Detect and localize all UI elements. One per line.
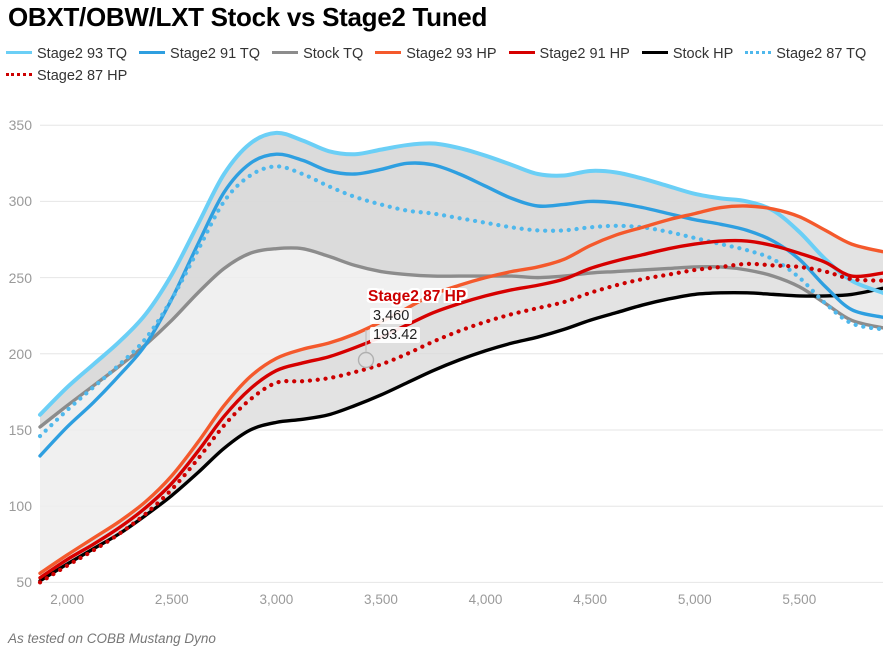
legend-item-label: Stage2 87 HP [37, 68, 127, 84]
legend-item[interactable]: Stage2 91 HP [509, 44, 630, 65]
legend-swatch-icon [6, 73, 32, 76]
legend-item-label: Stage2 93 TQ [37, 46, 127, 62]
chart-canvas [0, 110, 883, 590]
legend-item[interactable]: Stage2 87 HP [6, 66, 127, 87]
x-axis-tick-label: 3,000 [259, 592, 293, 607]
x-axis-tick-label: 5,000 [678, 592, 712, 607]
legend-item-label: Stock HP [673, 46, 733, 62]
x-axis-tick-label: 3,500 [364, 592, 398, 607]
x-axis-tick-label: 4,000 [469, 592, 503, 607]
legend-item[interactable]: Stock HP [642, 44, 733, 65]
chart-footnote: As tested on COBB Mustang Dyno [8, 631, 216, 646]
legend-swatch-icon [272, 51, 298, 54]
legend-swatch-icon [375, 51, 401, 54]
legend-item-label: Stage2 91 HP [540, 46, 630, 62]
x-axis-labels: 2,0002,5003,0003,5004,0004,5005,0005,500 [0, 592, 883, 618]
chart-legend: Stage2 93 TQStage2 91 TQStock TQStage2 9… [6, 44, 883, 87]
legend-item-label: Stock TQ [303, 46, 363, 62]
x-axis-tick-label: 2,500 [155, 592, 189, 607]
legend-swatch-icon [509, 51, 535, 54]
legend-swatch-icon [139, 51, 165, 54]
legend-swatch-icon [745, 51, 771, 54]
dyno-chart: OBXT/OBW/LXT Stock vs Stage2 Tuned Stage… [0, 0, 883, 658]
legend-swatch-icon [6, 51, 32, 54]
x-axis-tick-label: 4,500 [573, 592, 607, 607]
chart-title: OBXT/OBW/LXT Stock vs Stage2 Tuned [8, 2, 487, 33]
legend-item[interactable]: Stock TQ [272, 44, 363, 65]
legend-item-label: Stage2 91 TQ [170, 46, 260, 62]
plot-area [0, 110, 883, 590]
legend-item[interactable]: Stage2 87 TQ [745, 44, 866, 65]
legend-item[interactable]: Stage2 93 HP [375, 44, 496, 65]
x-axis-tick-label: 2,000 [50, 592, 84, 607]
legend-item-label: Stage2 93 HP [406, 46, 496, 62]
legend-item-label: Stage2 87 TQ [776, 46, 866, 62]
legend-item[interactable]: Stage2 93 TQ [6, 44, 127, 65]
legend-swatch-icon [642, 51, 668, 54]
x-axis-tick-label: 5,500 [782, 592, 816, 607]
legend-item[interactable]: Stage2 91 TQ [139, 44, 260, 65]
